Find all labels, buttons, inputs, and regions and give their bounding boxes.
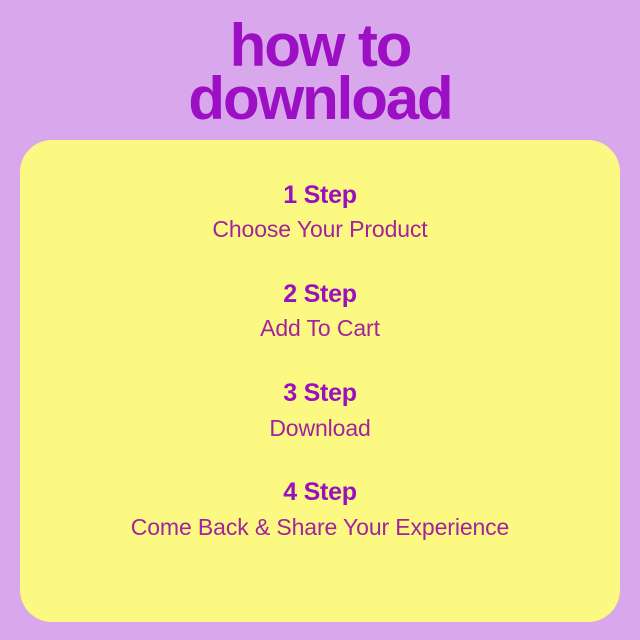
steps-card: 1 Step Choose Your Product 2 Step Add To… [20, 140, 620, 622]
steps-list: 1 Step Choose Your Product 2 Step Add To… [20, 180, 620, 543]
step-item-1: 1 Step Choose Your Product [20, 180, 620, 245]
title-line-2: download [0, 71, 640, 126]
step-item-2: 2 Step Add To Cart [20, 279, 620, 344]
step-item-4: 4 Step Come Back & Share Your Experience [20, 477, 620, 542]
step-subtitle: Add To Cart [20, 314, 620, 344]
page-title: how to download [0, 18, 640, 126]
step-heading: 2 Step [20, 279, 620, 310]
step-heading: 3 Step [20, 378, 620, 409]
step-subtitle: Download [20, 414, 620, 444]
step-subtitle: Come Back & Share Your Experience [20, 513, 620, 543]
poster-canvas: how to download 1 Step Choose Your Produ… [0, 0, 640, 640]
title-line-1: how to [0, 18, 640, 73]
step-subtitle: Choose Your Product [20, 215, 620, 245]
step-heading: 4 Step [20, 477, 620, 508]
step-heading: 1 Step [20, 180, 620, 211]
step-item-3: 3 Step Download [20, 378, 620, 443]
